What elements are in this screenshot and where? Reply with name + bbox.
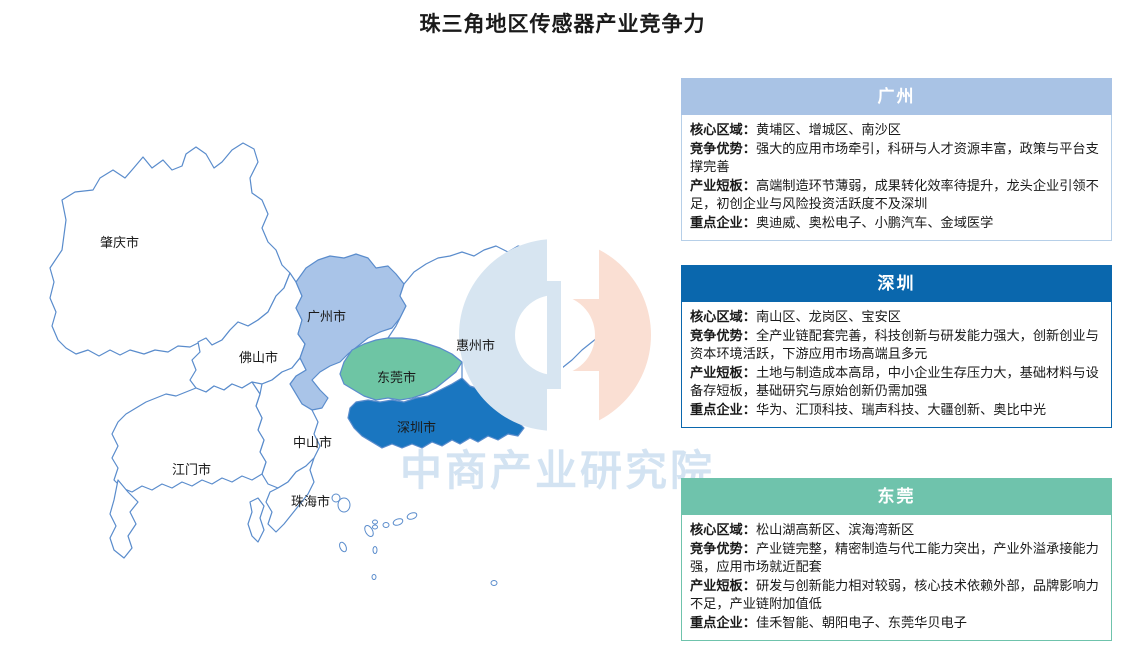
map-label-huizhou: 惠州市 bbox=[456, 335, 495, 354]
map-label-guangzhou: 广州市 bbox=[307, 306, 346, 325]
card-value-core-area: 黄埔区、增城区、南沙区 bbox=[756, 122, 901, 137]
card-row-core-area: 核心区域：松山湖高新区、滨海湾新区 bbox=[690, 521, 1103, 540]
card-key-weakness: 产业短板： bbox=[690, 365, 756, 380]
card-key-key-companies: 重点企业： bbox=[690, 615, 756, 630]
card-row-key-companies: 重点企业：华为、汇顶科技、瑞声科技、大疆创新、奥比中光 bbox=[690, 401, 1103, 420]
pearl-river-delta-map bbox=[0, 50, 675, 665]
map-label-dongguan: 东莞市 bbox=[377, 367, 416, 386]
map-label-shenzhen: 深圳市 bbox=[397, 417, 436, 436]
map-label-foshan: 佛山市 bbox=[239, 347, 278, 366]
card-header-dongguan: 东莞 bbox=[681, 478, 1112, 515]
card-key-key-companies: 重点企业： bbox=[690, 215, 756, 230]
card-row-advantage: 竞争优势：产业链完整，精密制造与代工能力突出，产业外溢承接能力强，应用市场就近配… bbox=[690, 540, 1103, 577]
city-card-guangzhou: 广州 核心区域：黄埔区、增城区、南沙区 竞争优势：强大的应用市场牵引，科研与人才… bbox=[681, 78, 1112, 241]
map-label-zhuhai: 珠海市 bbox=[291, 491, 330, 510]
card-value-core-area: 南山区、龙岗区、宝安区 bbox=[756, 309, 901, 324]
card-value-key-companies: 奥迪威、奥松电子、小鹏汽车、金域医学 bbox=[756, 215, 993, 230]
city-card-dongguan: 东莞 核心区域：松山湖高新区、滨海湾新区 竞争优势：产业链完整，精密制造与代工能… bbox=[681, 478, 1112, 641]
card-row-core-area: 核心区域：南山区、龙岗区、宝安区 bbox=[690, 308, 1103, 327]
card-row-weakness: 产业短板：高端制造环节薄弱，成果转化效率待提升，龙头企业引领不足，初创企业与风险… bbox=[690, 177, 1103, 214]
card-row-weakness: 产业短板：研发与创新能力相对较弱，核心技术依赖外部，品牌影响力不足，产业链附加值… bbox=[690, 577, 1103, 614]
card-body-guangzhou: 核心区域：黄埔区、增城区、南沙区 竞争优势：强大的应用市场牵引，科研与人才资源丰… bbox=[681, 115, 1112, 241]
card-row-weakness: 产业短板：土地与制造成本高昂，中小企业生存压力大，基础材料与设备存短板，基础研究… bbox=[690, 364, 1103, 401]
map-label-jiangmen: 江门市 bbox=[172, 459, 211, 478]
map-label-zhaoqing: 肇庆市 bbox=[100, 232, 139, 251]
card-row-advantage: 竞争优势：全产业链配套完善，科技创新与研发能力强大，创新创业与资本环境活跃，下游… bbox=[690, 327, 1103, 364]
card-row-advantage: 竞争优势：强大的应用市场牵引，科研与人才资源丰富，政策与平台支撑完善 bbox=[690, 140, 1103, 177]
card-header-shenzhen: 深圳 bbox=[681, 265, 1112, 302]
map-panel: 中商产业研究院 肇庆市 佛山市 广州市 东莞市 惠州市 深圳市 中山市 江门市 … bbox=[0, 50, 675, 665]
card-key-core-area: 核心区域： bbox=[690, 522, 756, 537]
card-key-advantage: 竞争优势： bbox=[690, 141, 756, 156]
card-body-dongguan: 核心区域：松山湖高新区、滨海湾新区 竞争优势：产业链完整，精密制造与代工能力突出… bbox=[681, 515, 1112, 641]
city-card-shenzhen: 深圳 核心区域：南山区、龙岗区、宝安区 竞争优势：全产业链配套完善，科技创新与研… bbox=[681, 265, 1112, 428]
card-value-key-companies: 华为、汇顶科技、瑞声科技、大疆创新、奥比中光 bbox=[756, 402, 1046, 417]
card-value-key-companies: 佳禾智能、朝阳电子、东莞华贝电子 bbox=[756, 615, 967, 630]
card-key-weakness: 产业短板： bbox=[690, 578, 756, 593]
card-key-advantage: 竞争优势： bbox=[690, 328, 756, 343]
card-body-shenzhen: 核心区域：南山区、龙岗区、宝安区 竞争优势：全产业链配套完善，科技创新与研发能力… bbox=[681, 302, 1112, 428]
map-islands bbox=[332, 494, 497, 586]
map-coast-southwest bbox=[110, 480, 138, 558]
map-region-zhuhai-islands bbox=[248, 498, 264, 542]
card-value-core-area: 松山湖高新区、滨海湾新区 bbox=[756, 522, 914, 537]
card-key-key-companies: 重点企业： bbox=[690, 402, 756, 417]
page-title: 珠三角地区传感器产业竞争力 bbox=[0, 8, 1125, 38]
card-key-weakness: 产业短板： bbox=[690, 178, 756, 193]
card-row-core-area: 核心区域：黄埔区、增城区、南沙区 bbox=[690, 121, 1103, 140]
card-row-key-companies: 重点企业：奥迪威、奥松电子、小鹏汽车、金域医学 bbox=[690, 214, 1103, 233]
map-label-zhongshan: 中山市 bbox=[293, 432, 332, 451]
card-header-guangzhou: 广州 bbox=[681, 78, 1112, 115]
card-key-core-area: 核心区域： bbox=[690, 309, 756, 324]
card-key-advantage: 竞争优势： bbox=[690, 541, 756, 556]
card-row-key-companies: 重点企业：佳禾智能、朝阳电子、东莞华贝电子 bbox=[690, 614, 1103, 633]
card-key-core-area: 核心区域： bbox=[690, 122, 756, 137]
